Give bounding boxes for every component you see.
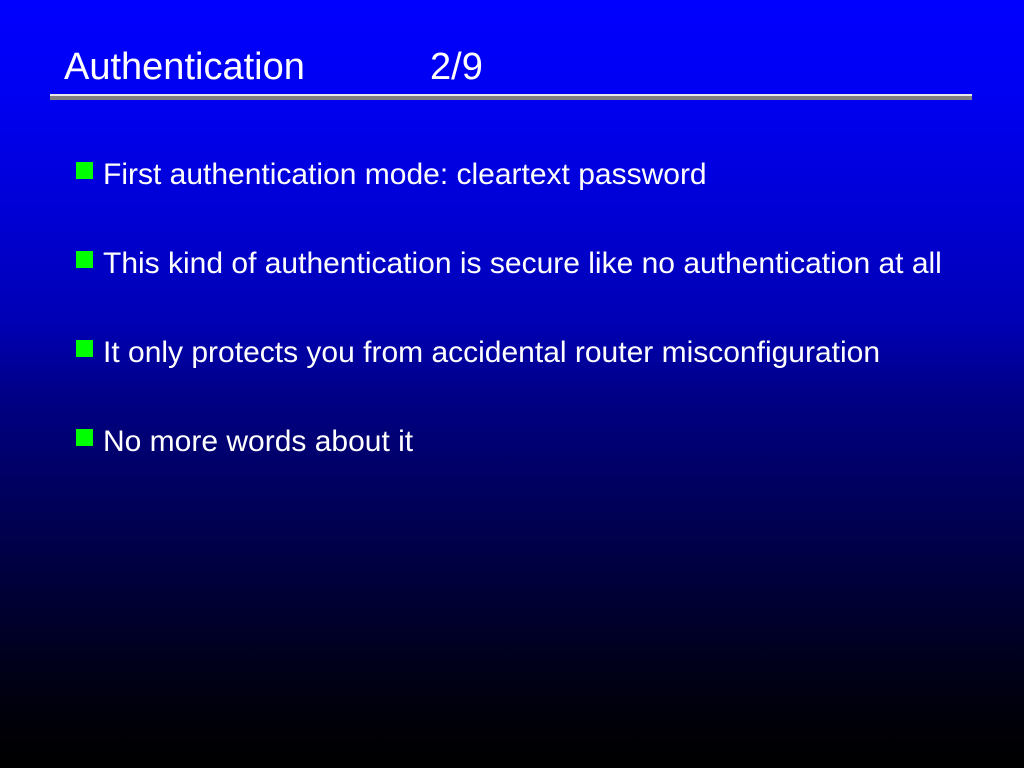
list-item: This kind of authentication is secure li… (76, 239, 1006, 288)
presentation-slide: Authentication 2/9 First authentication … (0, 0, 1024, 768)
page-title: Authentication (64, 44, 305, 90)
list-item: No more words about it (76, 417, 1006, 466)
list-item: It only protects you from accidental rou… (76, 328, 1006, 377)
square-bullet-icon (76, 162, 93, 179)
list-item-label: First authentication mode: cleartext pas… (103, 150, 1006, 199)
square-bullet-icon (76, 429, 93, 446)
list-item: First authentication mode: cleartext pas… (76, 150, 1006, 199)
title-divider-rule (50, 94, 972, 100)
list-item-label: No more words about it (103, 417, 1006, 466)
slide-bullet-list: First authentication mode: cleartext pas… (76, 150, 1006, 466)
list-item-label: This kind of authentication is secure li… (103, 239, 1006, 288)
slide-page-indicator: 2/9 (430, 44, 483, 90)
title-divider-shadow (50, 96, 972, 100)
square-bullet-icon (76, 340, 93, 357)
slide-title-block: Authentication 2/9 (50, 44, 974, 100)
list-item-label: It only protects you from accidental rou… (103, 328, 1006, 377)
square-bullet-icon (76, 251, 93, 268)
